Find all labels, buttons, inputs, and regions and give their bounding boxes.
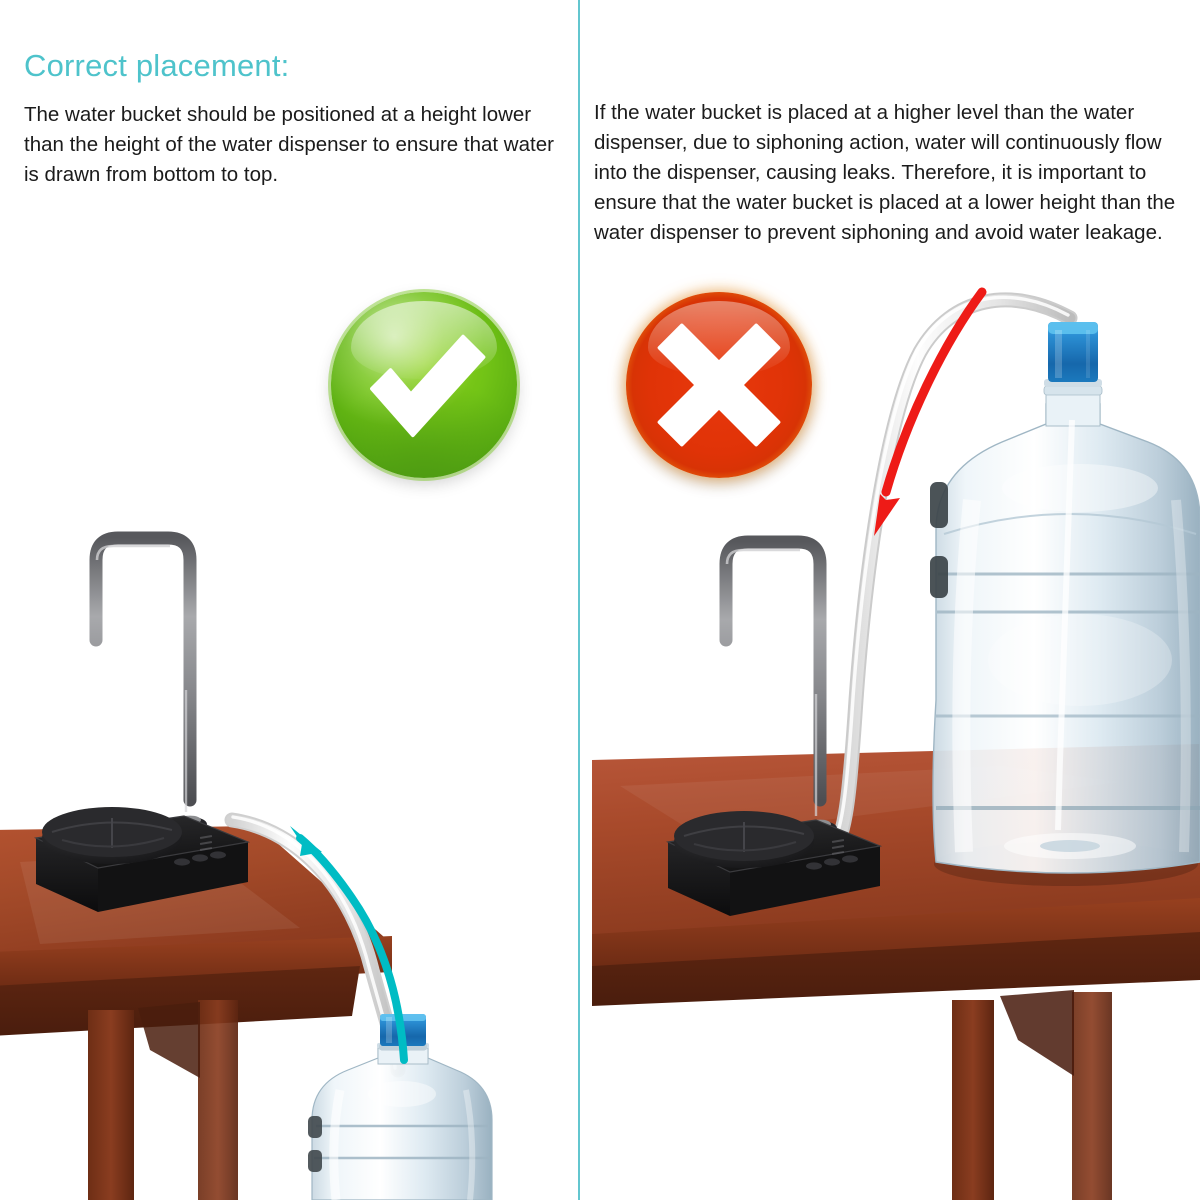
right-panel-description: If the water bucket is placed at a highe…	[594, 98, 1194, 248]
dispenser-left	[36, 538, 248, 912]
left-scene	[0, 538, 492, 1200]
close-icon	[626, 292, 812, 478]
instruction-graphic: Correct placement: The water bucket shou…	[0, 0, 1200, 1200]
green-check-badge	[331, 292, 517, 478]
red-cross-badge	[626, 292, 812, 478]
bottle-right	[930, 322, 1200, 886]
page-title: Correct placement:	[24, 48, 289, 84]
panel-divider	[578, 0, 580, 1200]
check-icon	[331, 292, 517, 478]
left-panel-description: The water bucket should be positioned at…	[24, 100, 564, 190]
